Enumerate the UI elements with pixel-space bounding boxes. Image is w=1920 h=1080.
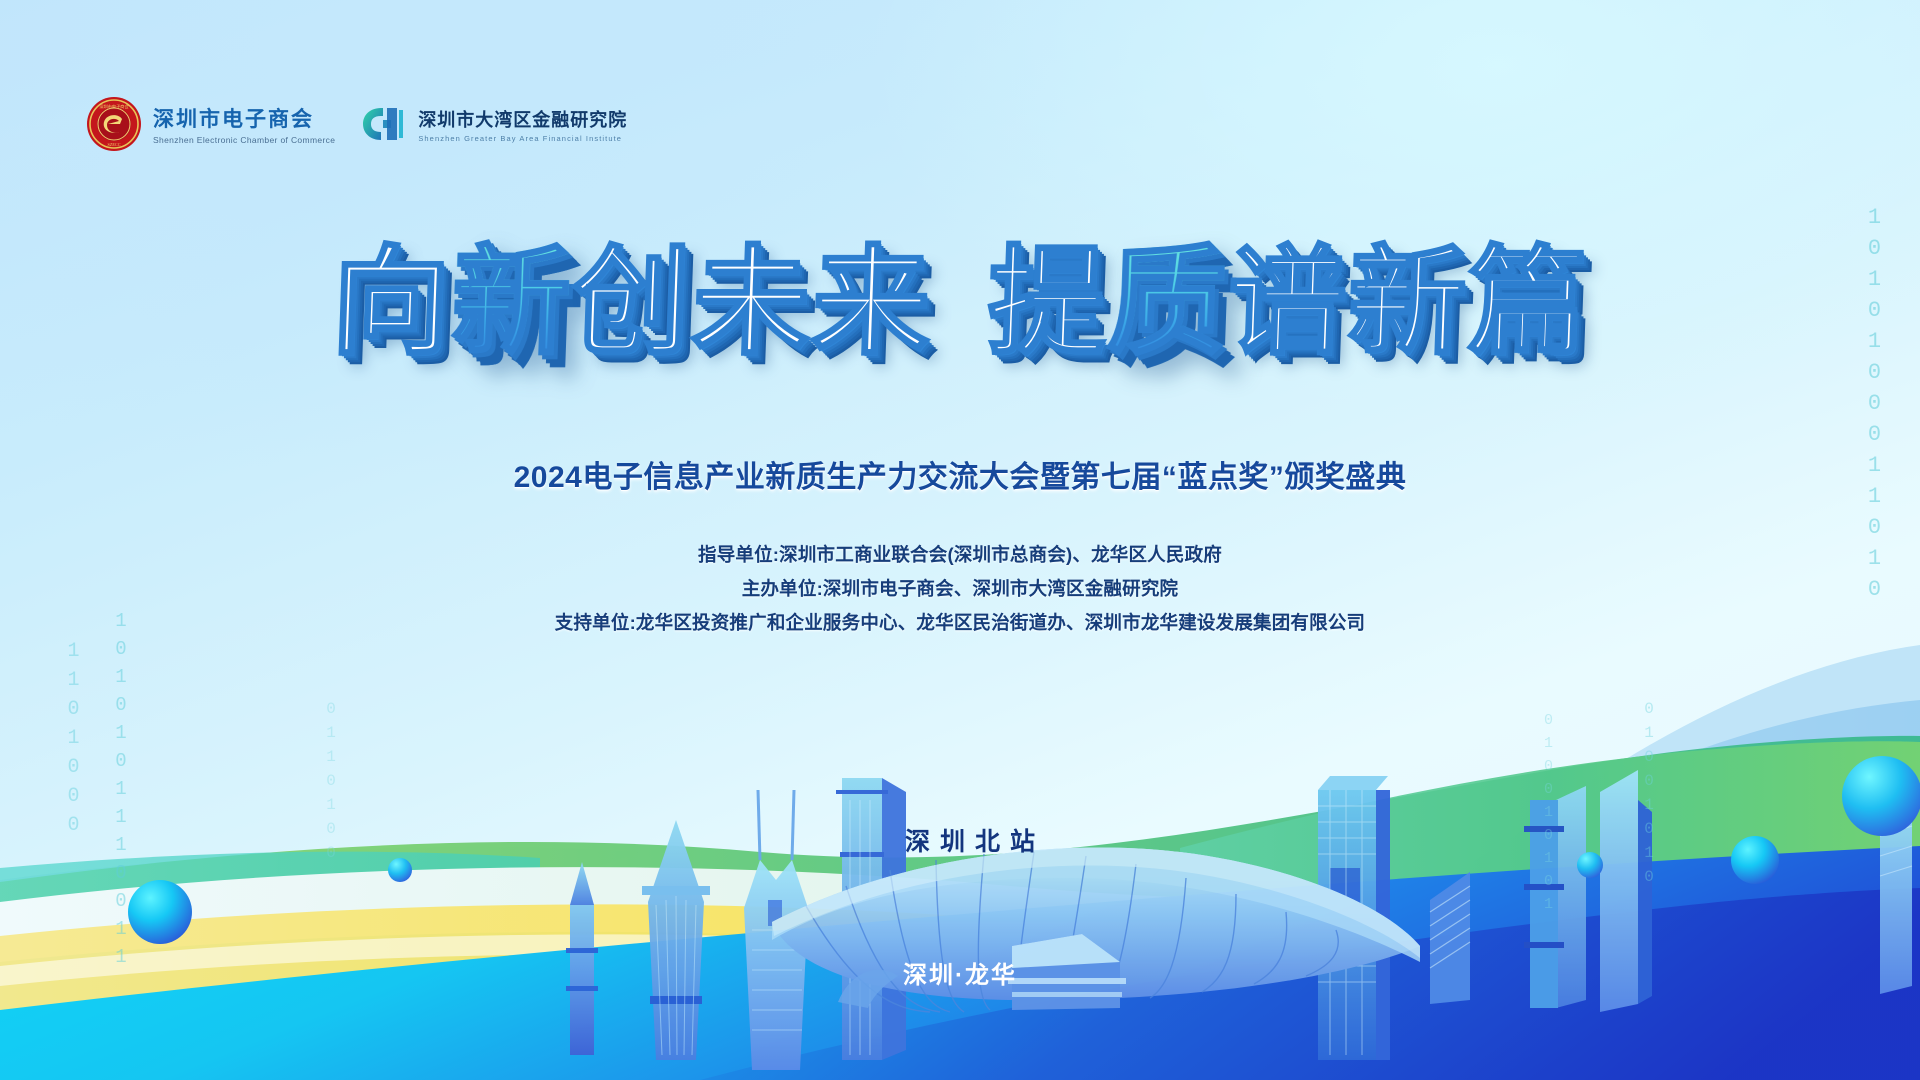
headline-char-7-accent: 质 [1106, 244, 1230, 362]
svg-text:SZECC: SZECC [107, 142, 120, 147]
headline-char-10: 篇 [1466, 244, 1590, 362]
binary-decor-left-outer: 1101000 [62, 640, 85, 843]
svg-text:深圳市电子商会: 深圳市电子商会 [99, 103, 129, 110]
gbi-monogram-icon [357, 102, 407, 146]
headline-char-5: 来 [810, 244, 934, 362]
headline-char-6: 提 [986, 244, 1110, 362]
headline-char-9: 新 [1346, 244, 1470, 362]
organizer-line-guidance: 指导单位:深圳市工商业联合会(深圳市总商会)、龙华区人民政府 [0, 538, 1920, 572]
headline: 向新创未来提质谱新篇 [0, 244, 1920, 362]
headline-char-1: 向 [330, 244, 454, 362]
headline-char-2-accent: 新 [450, 244, 574, 362]
institute-name-cn: 深圳市大湾区金融研究院 [418, 106, 627, 132]
organizer-line-host: 主办单位:深圳市电子商会、深圳市大湾区金融研究院 [0, 572, 1920, 606]
organizer-line-support: 支持单位:龙华区投资推广和企业服务中心、龙华区民治街道办、深圳市龙华建设发展集团… [0, 606, 1920, 640]
headline-char-8: 谱 [1226, 244, 1350, 362]
binary-decor-left-inner: 1010101110011 [110, 610, 132, 974]
chamber-name-cn: 深圳市电子商会 [153, 103, 335, 133]
chamber-seal-icon: 深圳市电子商会 SZECC [86, 96, 142, 152]
binary-decor-right-inner: 01001010 [1640, 700, 1658, 892]
place-label-footer: 深圳·龙华 [0, 955, 1920, 990]
headline-char-4: 未 [690, 244, 814, 362]
binary-decor-center-right: 010010101 [1540, 712, 1557, 919]
binary-decor-mid-left: 0110100 [322, 700, 340, 868]
chamber-name-en: Shenzhen Electronic Chamber of Commerce [153, 135, 335, 145]
institute-name-en: Shenzhen Greater Bay Area Financial Inst… [418, 134, 627, 143]
sponsor-logo-bar: 深圳市电子商会 SZECC 深圳市电子商会 Shenzhen Electroni… [86, 96, 627, 152]
logo-shenzhen-electronic-chamber: 深圳市电子商会 SZECC 深圳市电子商会 Shenzhen Electroni… [86, 96, 335, 152]
event-subtitle: 2024电子信息产业新质生产力交流大会暨第七届“蓝点奖”颁奖盛典 [0, 452, 1920, 496]
logo-gba-financial-institute: 深圳市大湾区金融研究院 Shenzhen Greater Bay Area Fi… [357, 102, 627, 146]
poster-canvas: 1010100011010 01001010 010010101 1101000… [0, 0, 1920, 1080]
organizer-block: 指导单位:深圳市工商业联合会(深圳市总商会)、龙华区人民政府 主办单位:深圳市电… [0, 538, 1920, 640]
headline-char-3: 创 [570, 244, 694, 362]
station-label: 深圳北站 [905, 822, 1045, 858]
